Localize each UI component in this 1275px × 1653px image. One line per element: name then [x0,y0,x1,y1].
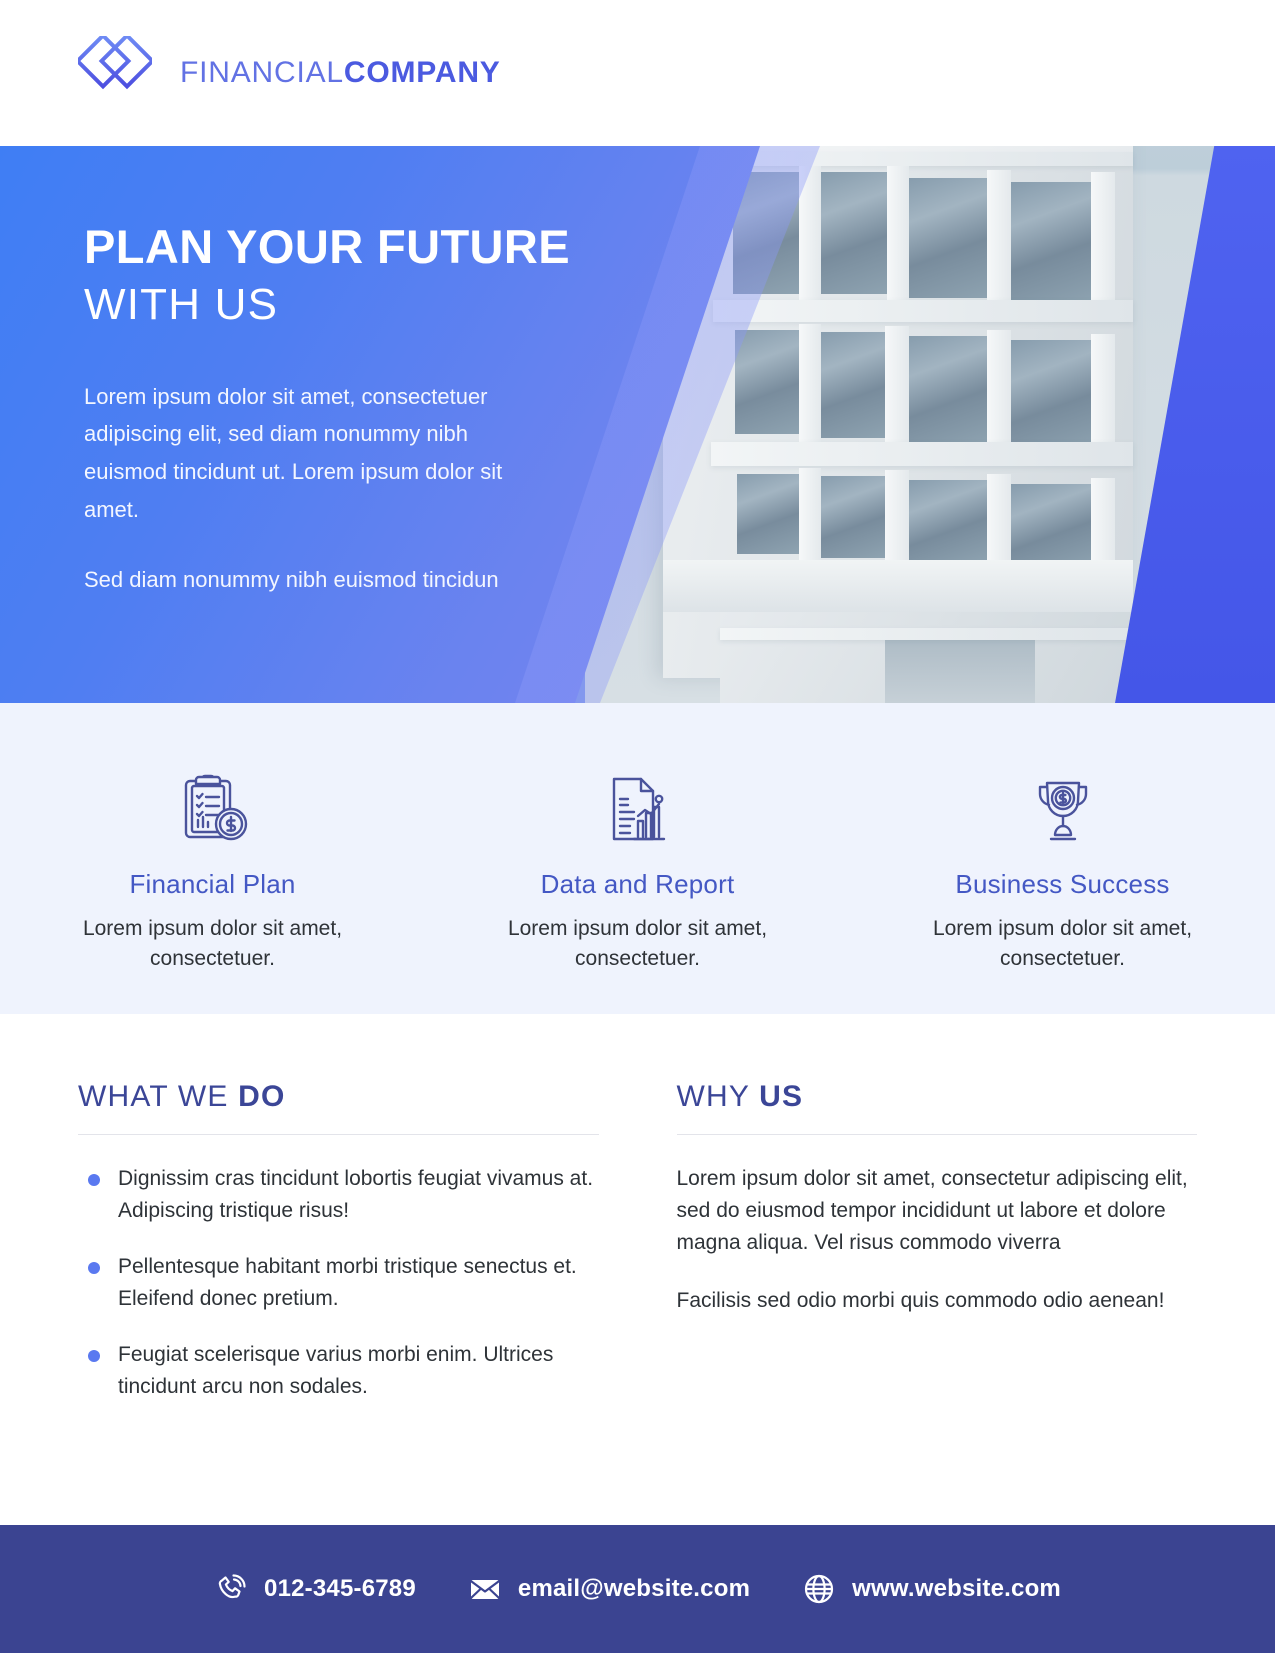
what-we-do-heading-light: WHAT WE [78,1080,238,1113]
feature-title: Business Success [898,869,1228,900]
footer-phone[interactable]: 012-345-6789 [214,1572,416,1606]
why-us-column: WHY US Lorem ipsum dolor sit amet, conse… [677,1080,1198,1525]
list-item: Feugiat scelerisque varius morbi enim. U… [78,1339,599,1403]
feature-card-data-and-report: Data and Report Lorem ipsum dolor sit am… [473,765,803,975]
footer-email-text: email@website.com [518,1575,750,1603]
list-item: Pellentesque habitant morbi tristique se… [78,1251,599,1315]
document-bar-chart-icon [473,765,803,853]
envelope-icon [468,1572,502,1606]
what-we-do-column: WHAT WE DO Dignissim cras tincidunt lobo… [78,1080,599,1525]
globe-icon [802,1572,836,1606]
main-content: WHAT WE DO Dignissim cras tincidunt lobo… [0,1014,1275,1525]
trophy-dollar-icon [898,765,1228,853]
feature-description: Lorem ipsum dolor sit amet, consectetuer… [473,914,803,975]
hero-paragraph-1: Lorem ipsum dolor sit amet, consectetuer… [84,378,554,529]
header-logo-bar: FINANCIALCOMPANY [0,0,1275,146]
why-us-heading: WHY US [677,1080,1198,1114]
what-we-do-heading: WHAT WE DO [78,1080,599,1114]
why-us-heading-bold: US [759,1080,803,1113]
hero-title-line1: PLAN YOUR FUTURE [84,222,644,273]
what-we-do-heading-bold: DO [238,1080,285,1113]
divider [677,1134,1198,1135]
footer-phone-text: 012-345-6789 [264,1575,416,1603]
double-diamond-logo-icon [78,36,152,110]
divider [78,1134,599,1135]
brand-name-bold: COMPANY [344,56,501,89]
phone-icon [214,1572,248,1606]
feature-card-financial-plan: Financial Plan Lorem ipsum dolor sit ame… [48,765,378,975]
feature-description: Lorem ipsum dolor sit amet, consectetuer… [898,914,1228,975]
why-us-heading-light: WHY [677,1080,760,1113]
feature-card-business-success: Business Success Lorem ipsum dolor sit a… [898,765,1228,975]
clipboard-checklist-dollar-icon [48,765,378,853]
footer-contact-bar: 012-345-6789 email@website.com www.websi… [0,1525,1275,1653]
footer-website-text: www.website.com [852,1575,1061,1603]
brand-name: FINANCIALCOMPANY [180,56,501,90]
why-us-paragraph: Facilisis sed odio morbi quis commodo od… [677,1285,1198,1317]
feature-description: Lorem ipsum dolor sit amet, consectetuer… [48,914,378,975]
footer-email[interactable]: email@website.com [468,1572,750,1606]
hero-paragraph-2: Sed diam nonummy nibh euismod tincidun [84,561,554,599]
footer-website[interactable]: www.website.com [802,1572,1061,1606]
brand-name-light: FINANCIAL [180,56,344,89]
feature-title: Financial Plan [48,869,378,900]
what-we-do-list: Dignissim cras tincidunt lobortis feugia… [78,1163,599,1402]
features-section: Financial Plan Lorem ipsum dolor sit ame… [0,703,1275,1014]
hero-copy: PLAN YOUR FUTURE WITH US Lorem ipsum dol… [84,222,644,599]
list-item: Dignissim cras tincidunt lobortis feugia… [78,1163,599,1227]
hero-title-line2: WITH US [84,279,644,332]
why-us-paragraph: Lorem ipsum dolor sit amet, consectetur … [677,1163,1198,1259]
feature-title: Data and Report [473,869,803,900]
hero-section: PLAN YOUR FUTURE WITH US Lorem ipsum dol… [0,146,1275,703]
